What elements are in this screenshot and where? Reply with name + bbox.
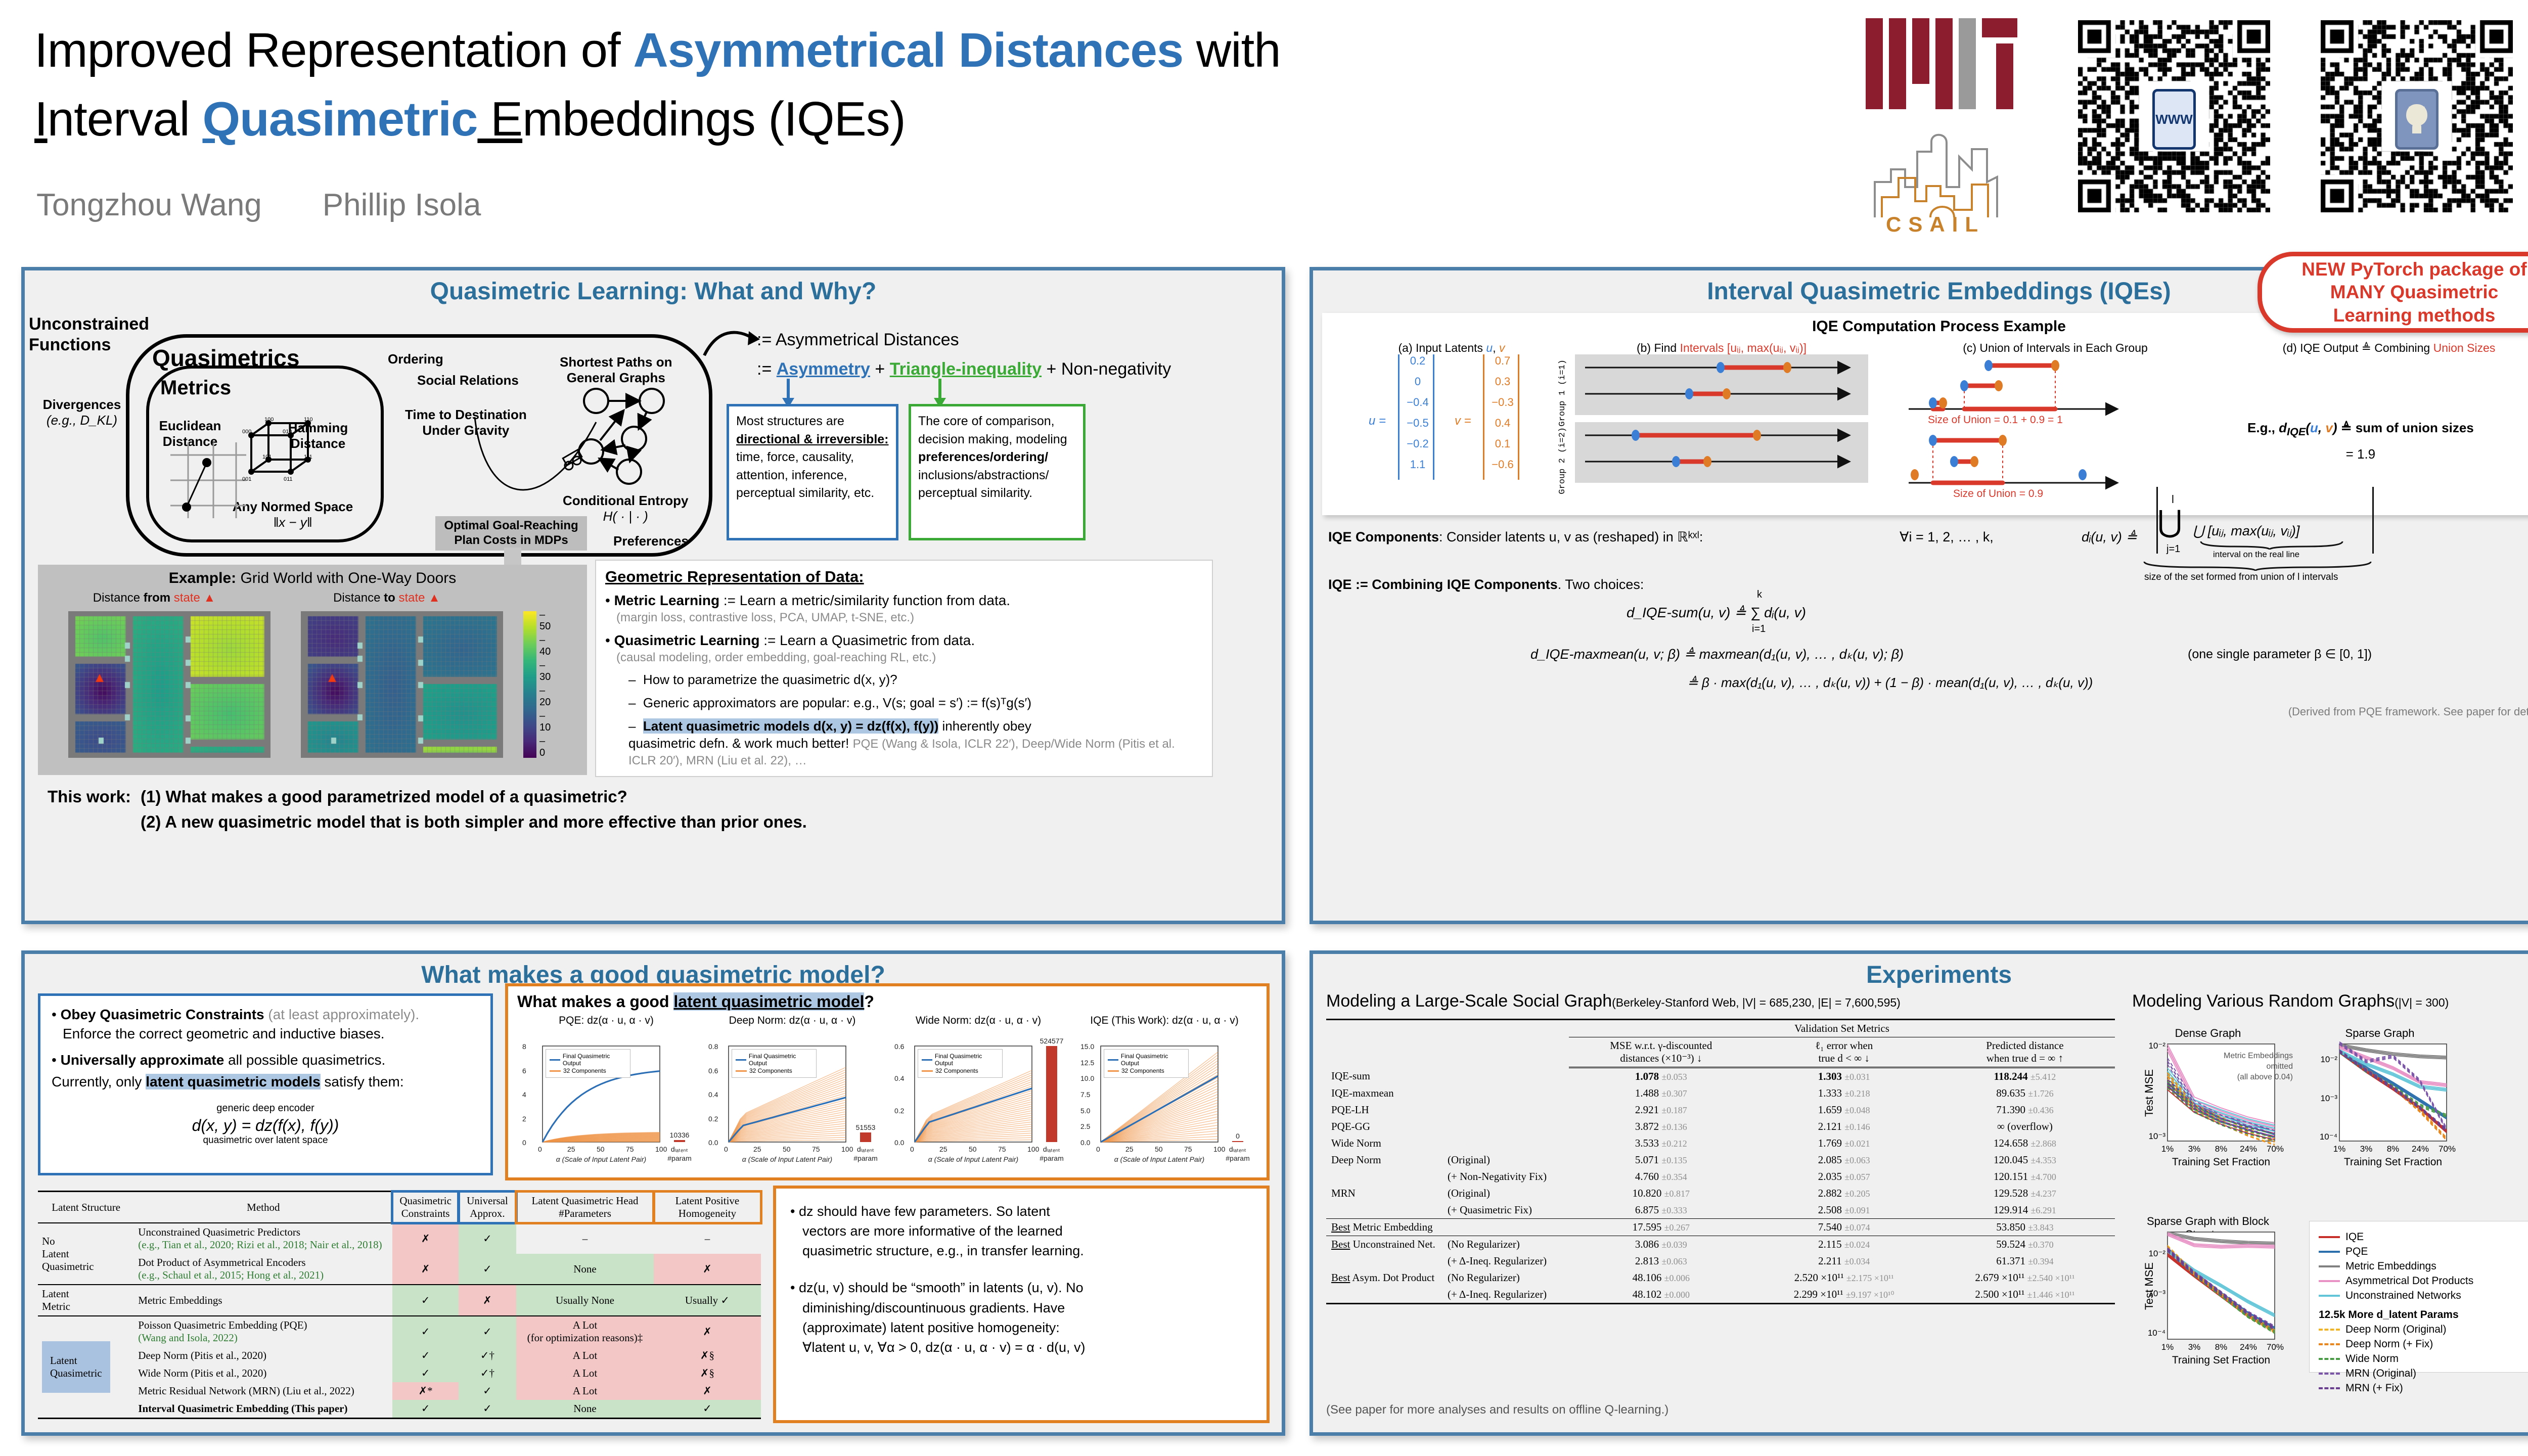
this-work-item-1: (1) What makes a good parametrized model…	[140, 784, 807, 809]
design-bullet-line: ∀latent u, v, ∀α > 0, dᴢ(α · u, α · v) =…	[802, 1338, 1252, 1357]
param-axis-label-2: #param	[849, 1154, 882, 1162]
divergences-line1: Divergences	[34, 397, 130, 413]
latent-chart-legend: Final Quasimetric Output32 Components	[1104, 1049, 1189, 1078]
table-method-cell: Unconstrained Quasimetric Predictors(e.g…	[134, 1223, 392, 1254]
rg-legend-swatch	[2319, 1373, 2340, 1375]
gw-right-c: state ▲	[395, 591, 440, 605]
table-header-row: Latent StructureMethodQuasimetric Constr…	[38, 1192, 761, 1223]
geo-d3-l2-text: quasimetric defn. & work much better!	[628, 736, 849, 751]
def2-post: + Non-negativity	[1042, 359, 1171, 379]
svg-text:110: 110	[304, 417, 313, 423]
mit-logo-bar	[1935, 18, 1953, 109]
svg-text:010: 010	[283, 429, 292, 435]
this-work-statement: This work: (1) What makes a good paramet…	[47, 784, 1260, 835]
label-divergences: Divergences (e.g., D_KL)	[34, 397, 130, 428]
mdp-line2: Plan Costs in MDPs	[439, 533, 583, 548]
results-bottom-rule	[1326, 1304, 2115, 1309]
iqe-interval-lines	[1575, 354, 1868, 483]
results-value-cell: 2.085 ±0.063	[1753, 1152, 1935, 1168]
design-bullet: • dᴢ should have few parameters. So late…	[790, 1202, 1252, 1261]
iqe-caption-a: (a) Input Latents u, v	[1335, 341, 1568, 355]
rg-legend-group-title: 12.5k More d_latent Params	[2319, 1309, 2528, 1321]
results-row: Best Unconstrained Net.(No Regularizer)3…	[1326, 1236, 2115, 1253]
table-method-cell: Poisson Quasimetric Embedding (PQE)(Wang…	[134, 1316, 392, 1347]
table-method-cell: Interval Quasimetric Embedding (This pap…	[134, 1400, 392, 1419]
cap-a-u: u	[1486, 341, 1493, 354]
table-value-cell: ✗	[654, 1316, 761, 1347]
geo-b2-sub: (causal modeling, order embedding, goal-…	[616, 650, 1203, 665]
gridworld-map-to	[301, 611, 503, 758]
results-row-name: Deep Norm	[1326, 1152, 1442, 1168]
y-tick: 0.6	[708, 1067, 718, 1075]
gm-b3-post: satisfy them:	[321, 1074, 404, 1089]
cap-a-v: v	[1499, 341, 1505, 354]
example-post: ≜ sum of union sizes	[2337, 420, 2473, 435]
results-footer-row	[1326, 1304, 2115, 1309]
table-row: LatentMetricMetric Embeddings✓✗Usually N…	[38, 1285, 761, 1316]
geo-d3-line2: quasimetric defn. & work much better! PQ…	[628, 735, 1203, 769]
iqe-figure-card: IQE Computation Process Example (a) Inpu…	[1322, 313, 2528, 515]
latent-chart-title: Wide Norm: dᴢ(α · u, α · v)	[892, 1015, 1064, 1027]
table-column-header: Latent Quasimetric Head #Parameters	[516, 1192, 654, 1223]
x-axis-label: α (Scale of Input Latent Pair)	[915, 1155, 1032, 1163]
latent-chart-legend: Final Quasimetric Output32 Components	[546, 1049, 630, 1078]
results-value-cell: 3.533 ±0.212	[1569, 1135, 1753, 1152]
example-d: dIQE(u, v)	[2279, 420, 2337, 435]
results-row: IQE-sum1.078 ±0.0531.303 ±0.031118.244 ±…	[1326, 1068, 2115, 1085]
gridworld-title-rest: Grid World with One-Way Doors	[236, 570, 456, 586]
results-row-variant: (No Regularizer)	[1442, 1269, 1569, 1286]
table-value-cell: ✗	[392, 1223, 458, 1254]
latent-chart: Deep Norm: dᴢ(α · u, α · v)02550751000.0…	[706, 1015, 878, 1166]
derived-note: (Derived from PQE framework. See paper f…	[2288, 705, 2528, 718]
results-value-cell: 89.635 ±1.726	[1935, 1085, 2115, 1102]
results-value-cell: 1.488 ±0.307	[1569, 1085, 1753, 1102]
results-value-cell: 2.035 ±0.057	[1753, 1168, 1935, 1185]
encoder-label: generic deep encoder	[52, 1103, 479, 1114]
y-tick: 0.4	[708, 1090, 718, 1099]
title-i-initial: I	[34, 92, 48, 146]
qr-code-github[interactable]	[2321, 20, 2513, 212]
table-row: Metric Residual Network (MRN) (Liu et al…	[38, 1382, 761, 1400]
x-tick: 75	[1184, 1145, 1192, 1153]
rg-x-axis-label: Training Set Fraction	[2168, 1354, 2275, 1367]
social-graph-section-title: Modeling a Large-Scale Social Graph(Berk…	[1326, 991, 1901, 1011]
results-row: (+ Quasimetric Fix)6.875 ±0.3332.508 ±0.…	[1326, 1202, 2115, 1219]
shortest-line1: Shortest Paths on	[560, 354, 672, 370]
x-axis-label: α (Scale of Input Latent Pair)	[729, 1155, 846, 1163]
info-box-triangle-inequality: The core of comparison, decision making,…	[909, 404, 1086, 540]
gw-left-c: state ▲	[170, 591, 215, 605]
cap-b-red: Intervals [uᵢⱼ, max(uᵢⱼ, vᵢⱼ)]	[1680, 341, 1807, 354]
good-model-formula-block: generic deep encoder d(x, y) = dᴢ(f(x), …	[52, 1103, 479, 1146]
geo-d3-rest: inherently obey	[938, 718, 1031, 734]
panel-title-experiments: Experiments	[1313, 961, 2528, 989]
shortest-line2: General Graphs	[560, 370, 672, 386]
results-row-variant	[1442, 1118, 1569, 1135]
mit-logo-bar	[1866, 18, 1883, 109]
validation-metrics-header: Validation Set Metrics	[1569, 1020, 2115, 1037]
results-value-cell: 1.769 ±0.021	[1753, 1135, 1935, 1152]
results-row-name: Wide Norm	[1326, 1135, 1442, 1152]
table-row: Deep Norm (Pitis et al., 2020)✓✓†A Lot✗§	[38, 1347, 761, 1364]
panel-experiments: Experiments Modeling a Large-Scale Socia…	[1310, 950, 2528, 1436]
components-bold: IQE Components	[1328, 529, 1439, 544]
gridworld-figure: Example: Grid World with One-Way Doors D…	[38, 565, 587, 775]
table-value-cell: None	[516, 1254, 654, 1285]
rg-legend-row: Deep Norm (Original)	[2319, 1324, 2528, 1336]
rg-legend-swatch	[2319, 1265, 2340, 1267]
rg-legend-row: IQE	[2319, 1231, 2528, 1243]
results-row: Best Metric Embedding17.595 ±0.2677.540 …	[1326, 1219, 2115, 1236]
results-value-cell: 124.658 ±2.868	[1935, 1135, 2115, 1152]
iqe-group1-label: Group 1 (i=1)	[1558, 359, 1567, 427]
rg-y-tick: 10⁻²	[2143, 1041, 2165, 1051]
good-model-line-3: Currently, only latent quasimetric model…	[52, 1072, 479, 1091]
table-value-cell: ✓†	[459, 1364, 516, 1382]
y-tick: 0.8	[708, 1042, 718, 1051]
curved-arrow-icon	[702, 325, 763, 366]
preferences-text: Preferences	[613, 533, 689, 549]
x-tick: 25	[567, 1145, 575, 1153]
results-value-cell: 2.921 ±0.187	[1569, 1102, 1753, 1118]
table-value-cell: –	[516, 1223, 654, 1254]
good-model-criteria-box: • Obey Quasimetric Constraints (at least…	[38, 993, 493, 1175]
gw-right-b: to	[384, 591, 395, 605]
y-tick: 12.5	[1080, 1059, 1094, 1067]
latent-model-charts-box: What makes a good latent quasimetric mod…	[505, 983, 1270, 1180]
rg-x-tick: 3%	[2358, 1144, 2374, 1154]
results-row-name: MRN	[1326, 1185, 1442, 1202]
latent-value: −0.3	[1481, 396, 1524, 409]
charts-heading: What makes a good latent quasimetric mod…	[517, 992, 1267, 1011]
results-row: Wide Norm3.533 ±0.2121.769 ±0.021124.658…	[1326, 1135, 2115, 1152]
geometric-dash-2: – Generic approximators are popular: e.g…	[605, 695, 1203, 712]
param-axis-label-2: #param	[1221, 1154, 1254, 1162]
gw-left-a: Distance	[93, 591, 144, 605]
results-value-cell: 118.244 ±5.412	[1935, 1068, 2115, 1085]
param-count-label: 10336	[665, 1131, 694, 1139]
table-column-header: Universal Approx.	[459, 1192, 516, 1223]
legend-label: Final Quasimetric Output	[1121, 1053, 1185, 1067]
title-part-1: Improved Representation of	[34, 23, 633, 77]
svg-text:100: 100	[264, 417, 274, 423]
directed-graph-icon	[576, 386, 687, 487]
table-bottom-rule	[38, 1419, 761, 1425]
legend-label: 32 Components	[935, 1067, 978, 1074]
rg-legend: IQEPQEMetric EmbeddingsAsymmetrical Dot …	[2309, 1221, 2528, 1373]
x-tick: 75	[998, 1145, 1006, 1153]
green-box-line2: decision making, modeling	[918, 431, 1076, 449]
results-column-header: MSE w.r.t. γ-discounteddistances (×10⁻³)…	[1569, 1037, 1753, 1068]
colorbar-tick: – 50	[539, 609, 551, 632]
latent-chart: PQE: dᴢ(α · u, α · v)025507510002468α (S…	[520, 1015, 692, 1166]
qr-code-website[interactable]: WWW	[2078, 20, 2270, 212]
svg-text:001: 001	[242, 476, 251, 482]
latent-vector-v: 0.70.3−0.30.40.1−0.6	[1483, 354, 1519, 480]
legend-label: 32 Components	[563, 1067, 606, 1074]
green-box-line2-text: decision making, modeling	[918, 432, 1067, 446]
iqe-group2-label: Group 2 (i=2)	[1558, 427, 1567, 494]
y-tick: 0.2	[708, 1115, 718, 1123]
rg-legend-row: MRN (Original)	[2319, 1368, 2528, 1380]
iqe-caption-d: (d) IQE Output ≜ Combining Union Sizes	[2227, 341, 2528, 355]
latent-chart-title: Deep Norm: dᴢ(α · u, α · v)	[706, 1015, 878, 1027]
table-method-cell: Metric Residual Network (MRN) (Liu et al…	[134, 1382, 392, 1400]
latent-value: −0.5	[1396, 417, 1439, 430]
gm-b1-bold: Obey Quasimetric Constraints	[61, 1007, 264, 1022]
results-row-variant	[1442, 1135, 1569, 1152]
gw-right-a: Distance	[333, 591, 384, 605]
geo-b1-bold: Metric Learning	[614, 593, 719, 608]
table-value-cell: ✓†	[459, 1347, 516, 1364]
table-method-cell: Wide Norm (Pitis et al., 2020)	[134, 1364, 392, 1382]
legend-row: 32 Components	[550, 1067, 626, 1074]
legend-row: Final Quasimetric Output	[922, 1053, 999, 1067]
components-rest: : Consider latents u, v as (reshaped) in…	[1439, 529, 1703, 544]
results-value-cell: ∞ (overflow)	[1935, 1118, 2115, 1135]
x-tick: 50	[597, 1145, 605, 1153]
green-box-line5: perceptual similarity.	[918, 484, 1076, 503]
geometric-bullet-1: • Metric Learning := Learn a metric/simi…	[605, 591, 1203, 626]
results-row-variant: (Original)	[1442, 1152, 1569, 1168]
results-row: MRN(Original)10.820 ±0.8172.882 ±0.20512…	[1326, 1185, 2115, 1202]
results-row-name: IQE-sum	[1326, 1068, 1442, 1085]
rg-legend-label: IQE	[2345, 1231, 2364, 1243]
new-pytorch-package-callout: NEW PyTorch package of MANY Quasimetric …	[2258, 252, 2528, 333]
results-row: (+ Δ-Ineq. Regularizer)48.102 ±0.0002.29…	[1326, 1286, 2115, 1304]
def2-mid: +	[870, 359, 890, 379]
table-value-cell: None	[516, 1400, 654, 1419]
rg-legend-label: MRN (Original)	[2345, 1368, 2416, 1380]
geo-b2-rest: := Learn a Quasimetric from data.	[759, 632, 975, 648]
x-tick: 50	[783, 1145, 791, 1153]
latent-value: 0.4	[1481, 417, 1524, 430]
rg-x-tick: 70%	[2267, 1342, 2283, 1352]
table-value-cell: A Lot	[516, 1347, 654, 1364]
latent-value: −0.2	[1396, 437, 1439, 450]
def2-asymmetry: Asymmetry	[777, 359, 870, 379]
table-row: Dot Product of Asymmetrical Encoders(e.g…	[38, 1254, 761, 1285]
results-row: Best Asym. Dot Product(No Regularizer)48…	[1326, 1269, 2115, 1286]
table-value-cell: A Lot	[516, 1382, 654, 1400]
example-value: = 1.9	[2247, 446, 2474, 462]
colorbar-tick: – 30	[539, 660, 551, 683]
geometric-dash-3: – Latent quasimetric models d(x, y) = dᴢ…	[605, 718, 1203, 769]
example-pre: E.g.,	[2247, 420, 2279, 435]
random-graph-chart: Sparse Graph1%3%8%24%70%10⁻²10⁻³10⁻⁴Trai…	[2304, 1027, 2456, 1173]
www-label: WWW	[2155, 112, 2193, 127]
y-tick: 0.4	[894, 1074, 904, 1082]
results-value-cell: 120.151 ±4.700	[1935, 1168, 2115, 1185]
results-column-header: Predicted distancewhen true d = ∞ ↑	[1935, 1037, 2115, 1068]
param-axis-label-2: #param	[663, 1154, 696, 1162]
results-value-cell: 5.071 ±0.135	[1569, 1152, 1753, 1168]
good-model-bullet-2: • Universally approximate all possible q…	[52, 1051, 479, 1070]
svg-text:111: 111	[304, 454, 312, 460]
results-row-variant: (+ Δ-Ineq. Regularizer)	[1442, 1253, 1569, 1269]
geometric-representation-box: Geometric Representation of Data: • Metr…	[595, 560, 1213, 777]
param-count-bar	[1046, 1046, 1057, 1142]
y-tick: 10.0	[1080, 1074, 1094, 1082]
social-relations-text: Social Relations	[417, 373, 519, 388]
legend-label: 32 Components	[1121, 1067, 1164, 1074]
github-icon	[2395, 89, 2439, 150]
combining-bold: IQE := Combining IQE Components	[1328, 577, 1558, 592]
gridworld-caption-right: Distance to state ▲	[276, 591, 498, 605]
y-tick: 0.2	[894, 1107, 904, 1115]
table-value-cell: ✗§	[654, 1347, 761, 1364]
rg-legend-row: Deep Norm (+ Fix)	[2319, 1338, 2528, 1350]
euclidean-line1: Euclidean	[152, 418, 228, 434]
rg-legend-swatch	[2319, 1329, 2340, 1331]
table-value-cell: ✓	[392, 1364, 458, 1382]
blue-box-line5: perceptual similarity, etc.	[736, 484, 889, 503]
results-value-cell: 48.102 ±0.000	[1569, 1286, 1753, 1304]
results-row: PQE-GG3.872 ±0.1362.121 ±0.146∞ (overflo…	[1326, 1118, 2115, 1135]
random-graph-charts: Dense Graph1%3%8%24%70%10⁻²10⁻³Test MSET…	[2122, 1013, 2528, 1417]
legend-label: 32 Components	[749, 1067, 792, 1074]
iqe-combining-statement: IQE := Combining IQE Components. Two cho…	[1328, 577, 1644, 593]
table-row: Interval Quasimetric Embedding (This pap…	[38, 1400, 761, 1419]
results-row-variant	[1442, 1219, 1569, 1236]
callout-line-1: NEW PyTorch package of	[2301, 258, 2526, 281]
x-tick: 0	[724, 1145, 728, 1153]
rg-y-tick: 10⁻²	[2315, 1055, 2337, 1065]
x-tick: 25	[1125, 1145, 1134, 1153]
label-quasimetrics: Quasimetrics	[152, 344, 299, 372]
table-value-cell: ✗	[654, 1254, 761, 1285]
rg-legend-label: Deep Norm (+ Fix)	[2345, 1338, 2433, 1350]
rg-x-tick: 70%	[2267, 1144, 2283, 1154]
table-value-cell: –	[654, 1223, 761, 1254]
sum-lower-index: i=1	[1752, 623, 1766, 635]
rg-x-tick: 24%	[2240, 1342, 2256, 1352]
x-axis-label: α (Scale of Input Latent Pair)	[1101, 1155, 1218, 1163]
rg-legend-row: Unconstrained Networks	[2319, 1290, 2528, 1302]
poster-header: Improved Representation of Asymmetrical …	[0, 0, 2528, 253]
x-tick: 75	[626, 1145, 634, 1153]
latent-value: 0.2	[1396, 354, 1439, 368]
table-row: LatentQuasimetricPoisson Quasimetric Emb…	[38, 1316, 761, 1347]
equation-iqe-sum: d_IQE-sum(u, v) ≜ ∑ dᵢ(u, v)	[1627, 604, 1806, 621]
table-value-cell: ✓	[459, 1254, 516, 1285]
latent-v-label: v =	[1455, 414, 1471, 428]
results-row-name	[1326, 1253, 1442, 1269]
x-axis-label: α (Scale of Input Latent Pair)	[543, 1155, 660, 1163]
results-row-name: Best Unconstrained Net.	[1326, 1236, 1442, 1253]
blue-box-line3: time, force, causality,	[736, 448, 889, 467]
y-tick: 0.0	[1080, 1139, 1090, 1147]
gm-b3-highlight: latent quasimetric models	[146, 1074, 320, 1089]
table-value-cell: ✓	[459, 1316, 516, 1347]
union-size-group2: Size of Union = 0.9	[1953, 488, 2043, 500]
results-row-variant: (No Regularizer)	[1442, 1236, 1569, 1253]
iqe-example-output: E.g., dIQE(u, v) ≜ sum of union sizes = …	[2247, 420, 2474, 462]
results-row-name: IQE-maxmean	[1326, 1085, 1442, 1102]
table-column-header: Method	[134, 1192, 392, 1223]
results-value-cell: 4.760 ±0.354	[1569, 1168, 1753, 1185]
design-bullet-line: vectors are more informative of the lear…	[802, 1221, 1252, 1241]
label-social-relations: Social Relations	[417, 373, 519, 388]
colorbar-tick: – 10	[539, 710, 551, 734]
latent-value: −0.4	[1396, 396, 1439, 409]
callout-line-2: MANY Quasimetric	[2301, 281, 2526, 303]
x-tick: 25	[939, 1145, 947, 1153]
title-highlight-asymmetrical-distances: Asymmetrical Distances	[633, 23, 1183, 77]
good-model-bullet-1: • Obey Quasimetric Constraints (at least…	[52, 1005, 479, 1043]
rg-x-axis-label: Training Set Fraction	[2339, 1156, 2447, 1168]
geo-b1-rest: := Learn a metric/similarity function fr…	[719, 593, 1010, 608]
table-value-cell: ✓	[459, 1400, 516, 1419]
param-count-bar	[860, 1132, 871, 1142]
colorbar-tick: – 0	[539, 736, 545, 759]
maxmean-parameter-note: (one single parameter β ∈ [0, 1])	[2188, 647, 2372, 662]
charts-heading-post: ?	[864, 992, 874, 1011]
rg-legend-label: Deep Norm (Original)	[2345, 1324, 2447, 1336]
rg-legend-swatch	[2319, 1387, 2340, 1389]
csail-skyline-icon	[1871, 121, 2017, 222]
results-value-cell: 2.813 ±0.063	[1569, 1253, 1753, 1269]
chip-optimal-goal-reaching: Optimal Goal-Reaching Plan Costs in MDPs	[435, 516, 587, 551]
latent-chart-title: IQE (This Work): dᴢ(α · u, α · v)	[1078, 1015, 1250, 1027]
geometric-heading: Geometric Representation of Data:	[605, 568, 1203, 586]
results-value-cell: 2.299 ×10¹¹ ±9.197 ×10¹⁰	[1753, 1286, 1935, 1304]
mit-logo	[1866, 18, 2017, 109]
table-column-header: Latent Structure	[38, 1192, 134, 1223]
rg-legend-swatch	[2319, 1295, 2340, 1297]
results-value-cell: 1.659 ±0.048	[1753, 1102, 1935, 1118]
latent-value: 0	[1396, 375, 1439, 388]
geo-b2-bold: Quasimetric Learning	[614, 632, 760, 648]
brace-outer-label: size of the set formed from union of l i…	[2144, 572, 2338, 583]
page-title-line-1: Improved Representation of Asymmetrical …	[34, 23, 1281, 78]
blue-box-line2: directional & irreversible:	[736, 431, 889, 449]
inner-brace-icon	[2199, 540, 2345, 551]
y-tick: 4	[522, 1090, 526, 1099]
design-bullet-line: quasimetric structure, e.g., in transfer…	[802, 1241, 1252, 1261]
svg-text:000: 000	[242, 429, 251, 435]
legend-label: Final Quasimetric Output	[563, 1053, 626, 1067]
latent-quasimetric-formula: d(x, y) = dᴢ(f(x), f(y))	[52, 1116, 479, 1135]
legend-row: Final Quasimetric Output	[736, 1053, 812, 1067]
rg-y-axis-label: Test MSE	[2143, 1246, 2156, 1327]
design-criteria-bullets: • dᴢ should have few parameters. So late…	[776, 1189, 1267, 1388]
results-value-cell: 48.106 ±0.006	[1569, 1269, 1753, 1286]
results-value-cell: 2.679 ×10¹¹ ±2.540 ×10¹¹	[1935, 1269, 2115, 1286]
results-row: PQE-LH2.921 ±0.1871.659 ±0.04871.390 ±0.…	[1326, 1102, 2115, 1118]
latent-value: −0.6	[1481, 458, 1524, 471]
design-bullet-line: • dᴢ should have few parameters. So late…	[790, 1202, 1252, 1221]
experiments-footer-note: (See paper for more analyses and results…	[1326, 1403, 1668, 1417]
table-column-header: Latent Positive Homogeneity	[654, 1192, 761, 1223]
gm-b1-line2: Enforce the correct geometric and induct…	[63, 1024, 479, 1043]
geo-d1-text: How to parametrize the quasimetric d(x, …	[643, 672, 897, 687]
results-value-cell: 2.115 ±0.024	[1753, 1236, 1935, 1253]
latent-chart-legend: Final Quasimetric Output32 Components	[918, 1049, 1003, 1078]
rg-legend-row: PQE	[2319, 1246, 2528, 1258]
mit-logo-bar	[1959, 18, 1976, 109]
title-q-initial: Q	[202, 92, 240, 146]
results-value-cell: 1.303 ±0.031	[1753, 1068, 1935, 1085]
results-row-variant	[1442, 1102, 1569, 1118]
colorbar-tick: – 20	[539, 685, 551, 708]
rg-y-axis-label: Test MSE	[2143, 1053, 2156, 1133]
rg-legend-swatch	[2319, 1236, 2340, 1238]
design-bullet-line: • dᴢ(u, v) should be “smooth” in latents…	[790, 1278, 1252, 1298]
green-box-line4: inclusions/abstractions/	[918, 467, 1076, 485]
legend-row: Final Quasimetric Output	[1108, 1053, 1185, 1067]
